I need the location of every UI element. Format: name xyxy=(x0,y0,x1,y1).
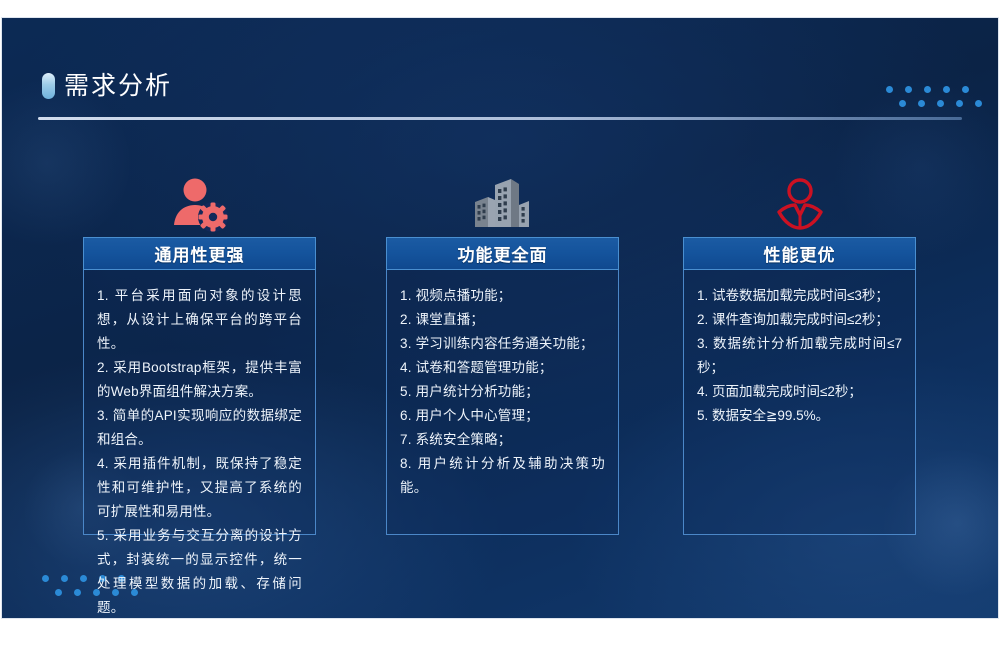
dot xyxy=(943,86,950,93)
businessman-outline-icon xyxy=(683,175,916,233)
dot xyxy=(962,86,969,93)
card-header: 通用性更强 xyxy=(83,237,316,270)
feature-card: 性能更优 1. 试卷数据加载完成时间≤3秒； 2. 课件查询加载完成时间≤2秒；… xyxy=(683,237,916,535)
card-text-line: 5. 采用业务与交互分离的设计方式，封装统一的显示控件，统一处理模型数据的加载、… xyxy=(97,524,302,618)
card-text-line: 3. 学习训练内容任务通关功能； xyxy=(400,332,605,356)
card-text-line: 5. 数据安全≧99.5%。 xyxy=(697,404,902,428)
card-header: 性能更优 xyxy=(683,237,916,270)
dot xyxy=(975,100,982,107)
page-title: 需求分析 xyxy=(64,66,172,102)
card-text-line: 8. 用户统计分析及辅助决策功能。 xyxy=(400,452,605,500)
dot-row xyxy=(886,86,982,93)
dot xyxy=(74,589,81,596)
dot xyxy=(905,86,912,93)
title-underline xyxy=(38,117,962,120)
title-pill-icon xyxy=(42,73,55,99)
card-text-line: 3. 简单的API实现响应的数据绑定和组合。 xyxy=(97,404,302,452)
dot xyxy=(886,86,893,93)
feature-card: 通用性更强 1. 平台采用面向对象的设计思想，从设计上确保平台的跨平台性。 2.… xyxy=(83,237,316,535)
card-text-line: 3. 数据统计分析加载完成时间≤7秒； xyxy=(697,332,902,380)
user-gear-icon xyxy=(83,175,316,233)
card-text-line: 4. 采用插件机制，既保持了稳定性和可维护性，又提高了系统的可扩展性和易用性。 xyxy=(97,452,302,524)
dot xyxy=(80,575,87,582)
card-text-line: 5. 用户统计分析功能； xyxy=(400,380,605,404)
dot xyxy=(918,100,925,107)
card-text-line: 4. 页面加载完成时间≤2秒； xyxy=(697,380,902,404)
dot xyxy=(55,589,62,596)
dot xyxy=(42,575,49,582)
dot-row xyxy=(899,100,982,107)
card-body: 1. 试卷数据加载完成时间≤3秒； 2. 课件查询加载完成时间≤2秒； 3. 数… xyxy=(683,270,916,535)
dot xyxy=(924,86,931,93)
card-text-line: 7. 系统安全策略； xyxy=(400,428,605,452)
card-text-line: 1. 试卷数据加载完成时间≤3秒； xyxy=(697,284,902,308)
card-body: 1. 平台采用面向对象的设计思想，从设计上确保平台的跨平台性。 2. 采用Boo… xyxy=(83,270,316,535)
card-text-line: 4. 试卷和答题管理功能； xyxy=(400,356,605,380)
dot-cluster-icon xyxy=(886,86,982,107)
card-title: 通用性更强 xyxy=(155,241,245,266)
card-title: 功能更全面 xyxy=(458,241,548,266)
card-text-line: 2. 课堂直播； xyxy=(400,308,605,332)
card-text-line: 2. 课件查询加载完成时间≤2秒； xyxy=(697,308,902,332)
card-header: 功能更全面 xyxy=(386,237,619,270)
dot xyxy=(61,575,68,582)
dot xyxy=(956,100,963,107)
card-text-line: 2. 采用Bootstrap框架，提供丰富的Web界面组件解决方案。 xyxy=(97,356,302,404)
office-building-icon xyxy=(386,175,619,233)
card-text-line: 1. 平台采用面向对象的设计思想，从设计上确保平台的跨平台性。 xyxy=(97,284,302,356)
card-title: 性能更优 xyxy=(764,241,836,266)
slide-canvas: 需求分析 xyxy=(2,18,998,618)
feature-card: 功能更全面 1. 视频点播功能； 2. 课堂直播； 3. 学习训练内容任务通关功… xyxy=(386,237,619,535)
card-text-line: 1. 视频点播功能； xyxy=(400,284,605,308)
card-text-line: 6. 用户个人中心管理； xyxy=(400,404,605,428)
card-body: 1. 视频点播功能； 2. 课堂直播； 3. 学习训练内容任务通关功能； 4. … xyxy=(386,270,619,535)
slide-header: 需求分析 xyxy=(2,18,998,104)
dot xyxy=(899,100,906,107)
dot xyxy=(937,100,944,107)
